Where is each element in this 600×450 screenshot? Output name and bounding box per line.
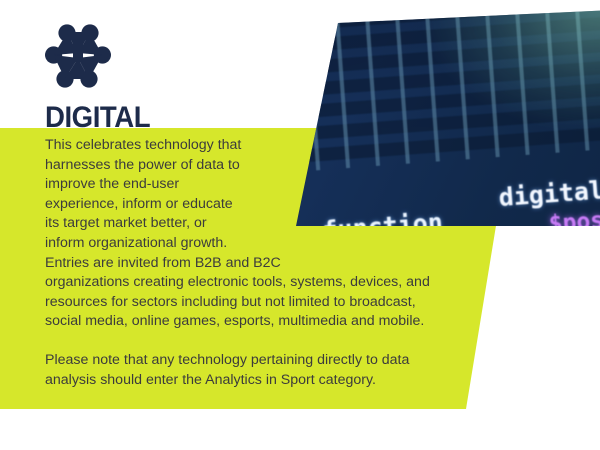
note-paragraph: Please note that any technology pertaini… xyxy=(45,351,475,390)
intro-line: experience, inform or educate xyxy=(45,195,281,215)
entries-line: social media, online games, esports, mul… xyxy=(45,312,475,332)
entries-line: organizations creating electronic tools,… xyxy=(45,273,475,293)
note-line: analysis should enter the Analytics in S… xyxy=(45,371,475,391)
intro-line: improve the end-user xyxy=(45,175,281,195)
slide-canvas: function digital_best global $post; $ori… xyxy=(0,0,600,450)
body-copy: This celebrates technology that harnesse… xyxy=(45,136,475,390)
page-title: DIGITAL xyxy=(45,103,150,133)
entries-paragraph: Entries are invited from B2B and B2C org… xyxy=(45,254,475,332)
entries-line: resources for sectors including but not … xyxy=(45,293,475,313)
intro-line: harnesses the power of data to xyxy=(45,156,281,176)
brand-logo-icon xyxy=(45,24,111,88)
code-token-digital-best: digital_best xyxy=(498,170,600,212)
intro-line: inform organizational growth. xyxy=(45,234,281,254)
intro-line: its target market better, or xyxy=(45,214,281,234)
code-token-post: $post; xyxy=(548,205,600,237)
note-line: Please note that any technology pertaini… xyxy=(45,351,475,371)
intro-line: This celebrates technology that xyxy=(45,136,281,156)
screen-glow xyxy=(420,10,600,142)
paragraph-spacer xyxy=(45,332,475,351)
entries-line: Entries are invited from B2B and B2C xyxy=(45,254,475,274)
intro-paragraph: This celebrates technology that harnesse… xyxy=(45,136,281,254)
